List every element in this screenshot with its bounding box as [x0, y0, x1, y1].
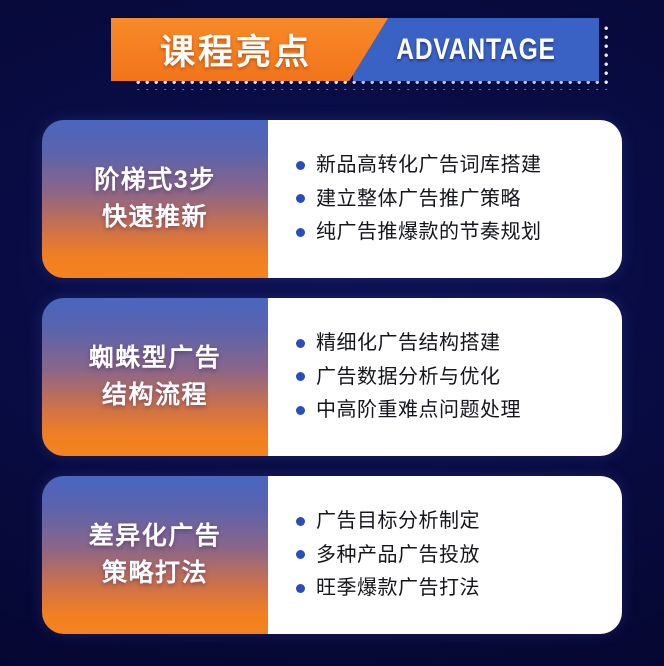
bullet-dot-icon [296, 161, 305, 170]
bullet-dot-icon [296, 550, 305, 559]
list-item: 广告目标分析制定 [296, 508, 622, 534]
bullet-label: 新品高转化广告词库搭建 [316, 152, 542, 178]
card-heading-panel: 差异化广告 策略打法 [42, 476, 268, 634]
card-heading-line1: 蜘蛛型广告 [89, 344, 222, 373]
bullet-dot-icon [296, 517, 305, 526]
card-bullet-panel: 新品高转化广告词库搭建 建立整体广告推广策略 纯广告推爆款的节奏规划 [268, 120, 622, 278]
feature-card[interactable]: 阶梯式3步 快速推新 新品高转化广告词库搭建 建立整体广告推广策略 纯广告推爆款… [42, 120, 622, 278]
bullet-label: 建立整体广告推广策略 [316, 186, 521, 212]
bullet-label: 广告目标分析制定 [316, 508, 480, 534]
card-heading-line1: 阶梯式3步 [94, 166, 215, 195]
bullet-label: 广告数据分析与优化 [316, 364, 501, 390]
list-item: 中高阶重难点问题处理 [296, 397, 622, 423]
banner-title-en: ADVANTAGE [375, 18, 577, 81]
list-item: 旺季爆款广告打法 [296, 575, 622, 601]
bullet-label: 多种产品广告投放 [316, 542, 480, 568]
card-heading-line2: 快速推新 [102, 203, 208, 232]
card-bullet-panel: 精细化广告结构搭建 广告数据分析与优化 中高阶重难点问题处理 [268, 298, 622, 456]
promo-page: 课程亮点 ADVANTAGE 阶梯式3步 快速推新 新品高转化广告词库搭建 建立… [0, 0, 664, 666]
card-heading-panel: 蜘蛛型广告 结构流程 [42, 298, 268, 456]
bullet-label: 旺季爆款广告打法 [316, 575, 480, 601]
card-heading-line1: 差异化广告 [89, 522, 222, 551]
list-item: 广告数据分析与优化 [296, 364, 622, 390]
list-item: 多种产品广告投放 [296, 542, 622, 568]
card-heading-panel: 阶梯式3步 快速推新 [42, 120, 268, 278]
card-heading-line2: 策略打法 [102, 559, 208, 588]
feature-card-list: 阶梯式3步 快速推新 新品高转化广告词库搭建 建立整体广告推广策略 纯广告推爆款… [42, 120, 622, 654]
card-heading-line2: 结构流程 [102, 381, 208, 410]
header-banner: 课程亮点 ADVANTAGE [0, 0, 664, 100]
bullet-dot-icon [296, 228, 305, 237]
list-item: 建立整体广告推广策略 [296, 186, 622, 212]
card-bullet-panel: 广告目标分析制定 多种产品广告投放 旺季爆款广告打法 [268, 476, 622, 634]
bullet-label: 纯广告推爆款的节奏规划 [316, 219, 542, 245]
bullet-dot-icon [296, 194, 305, 203]
bullet-dot-icon [296, 584, 305, 593]
bullet-dot-icon [296, 372, 305, 381]
bullet-dot-icon [296, 339, 305, 348]
banner-title-cn: 课程亮点 [111, 18, 361, 81]
list-item: 纯广告推爆款的节奏规划 [296, 219, 622, 245]
bullet-label: 精细化广告结构搭建 [316, 330, 501, 356]
feature-card[interactable]: 蜘蛛型广告 结构流程 精细化广告结构搭建 广告数据分析与优化 中高阶重难点问题处… [42, 298, 622, 456]
bullet-label: 中高阶重难点问题处理 [316, 397, 521, 423]
feature-card[interactable]: 差异化广告 策略打法 广告目标分析制定 多种产品广告投放 旺季爆款广告打法 [42, 476, 622, 634]
list-item: 新品高转化广告词库搭建 [296, 152, 622, 178]
bullet-dot-icon [296, 406, 305, 415]
list-item: 精细化广告结构搭建 [296, 330, 622, 356]
